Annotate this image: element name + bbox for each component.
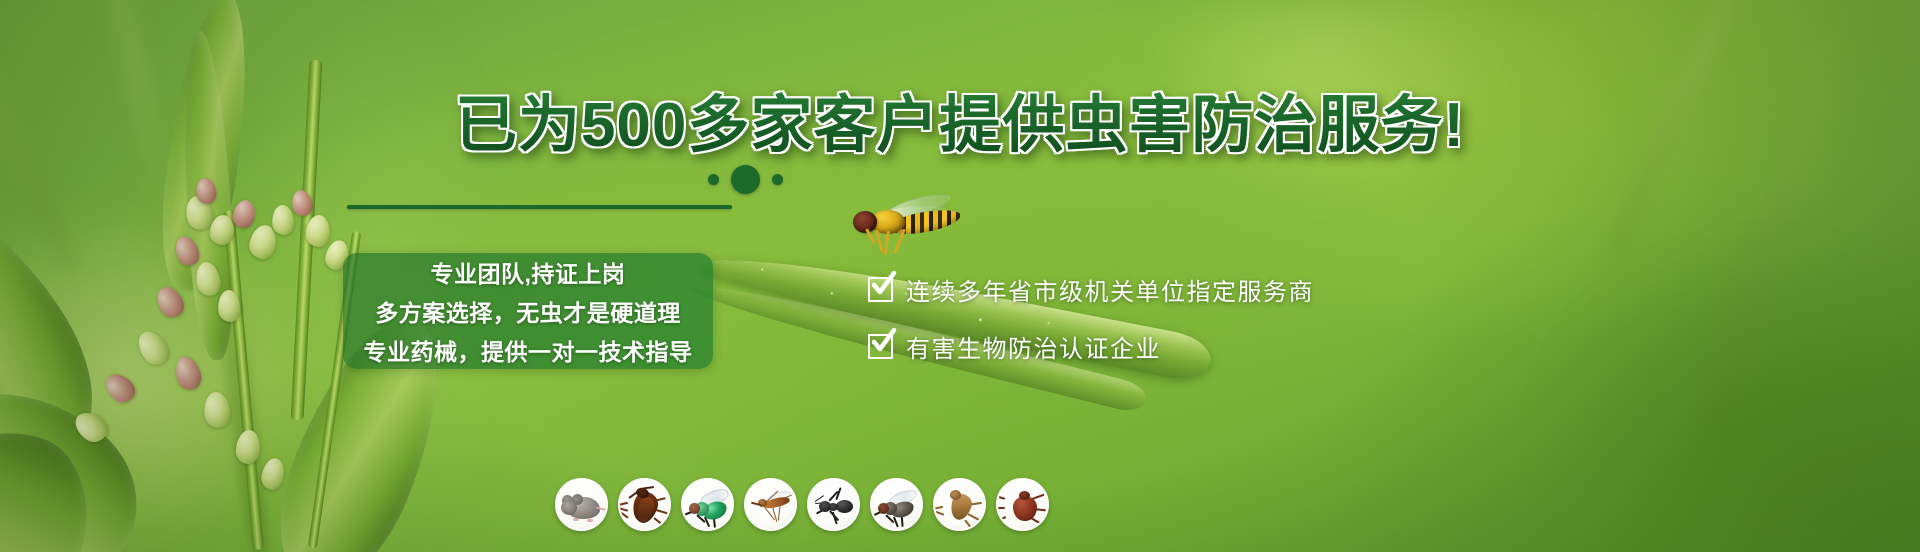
- selling-points-text: 专业团队,持证上岗 多方案选择，无虫才是硬道理 专业药械，提供一对一技术指导: [343, 253, 713, 369]
- decorative-dot-small: [772, 174, 783, 185]
- page-title: 已为500多家客户提供虫害防治服务!: [0, 74, 1920, 164]
- pest-control-promo-banner: 已为500多家客户提供虫害防治服务! 专业团队,持证上岗 多方案选择，无虫才是硬…: [0, 0, 1920, 552]
- bedbug-icon[interactable]: [996, 478, 1049, 531]
- housefly-icon[interactable]: [870, 478, 923, 531]
- cockroach-icon[interactable]: [618, 478, 671, 531]
- flea-icon[interactable]: [933, 478, 986, 531]
- decorative-dot-small: [708, 174, 719, 185]
- list-item: 连续多年省市级机关单位指定服务商: [868, 272, 1314, 307]
- decorative-dot-large: [731, 165, 760, 194]
- credential-label: 有害生物防治认证企业: [906, 329, 1161, 364]
- pest-types-row: [555, 478, 1049, 531]
- ant-icon[interactable]: [807, 478, 860, 531]
- selling-point-line-3: 专业药械，提供一对一技术指导: [364, 333, 693, 367]
- mosquito-icon[interactable]: [744, 478, 797, 531]
- divider: [347, 205, 732, 209]
- mouse-icon[interactable]: [555, 478, 608, 531]
- green-bottle-fly-icon[interactable]: [681, 478, 734, 531]
- credentials-list: 连续多年省市级机关单位指定服务商 有害生物防治认证企业: [868, 272, 1314, 364]
- list-item: 有害生物防治认证企业: [868, 329, 1314, 364]
- checkbox-checked-icon: [868, 334, 893, 359]
- checkbox-checked-icon: [868, 277, 893, 302]
- credential-label: 连续多年省市级机关单位指定服务商: [906, 272, 1314, 307]
- decorative-dots: [708, 165, 783, 194]
- selling-point-line-1: 专业团队,持证上岗: [431, 255, 626, 289]
- selling-point-line-2: 多方案选择，无虫才是硬道理: [375, 294, 681, 328]
